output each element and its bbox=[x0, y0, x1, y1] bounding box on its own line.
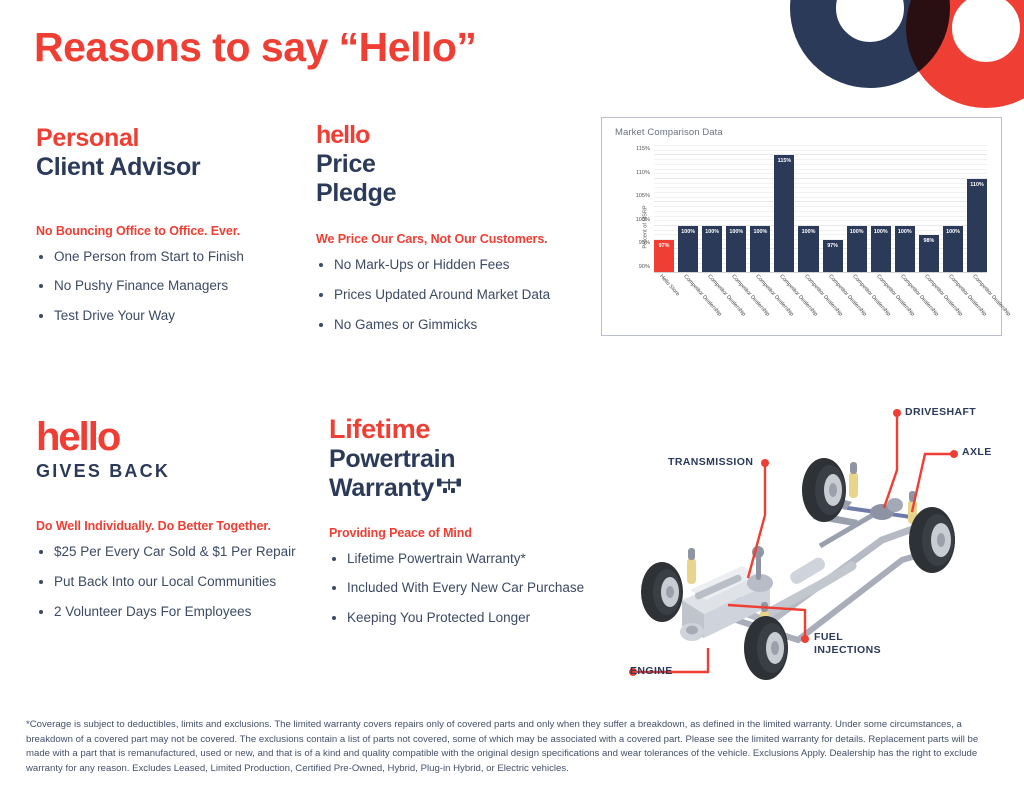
chart-bars: 97%100%100%100%100%115%100%97%100%100%10… bbox=[654, 146, 987, 273]
label-fuel-injections-line2: INJECTIONS bbox=[814, 644, 881, 656]
chart-bar-value-label: 100% bbox=[871, 229, 891, 235]
chart-y-tick-label: 95% bbox=[639, 240, 650, 246]
list-item: Put Back Into our Local Communities bbox=[36, 574, 301, 591]
chart-bar[interactable]: 100% bbox=[750, 226, 770, 273]
chart-bar[interactable]: 97% bbox=[654, 240, 674, 273]
section-subhead: We Price Our Cars, Not Our Customers. bbox=[316, 232, 586, 246]
list-item: No Mark-Ups or Hidden Fees bbox=[316, 257, 586, 274]
list-item: Prices Updated Around Market Data bbox=[316, 287, 586, 304]
chart-y-tick-label: 115% bbox=[636, 146, 650, 152]
section-subhead: Do Well Individually. Do Better Together… bbox=[36, 519, 301, 533]
chart-bar-value-label: 100% bbox=[678, 229, 698, 235]
chart-bar-slot: 100% bbox=[943, 146, 963, 273]
red-ring-shape bbox=[906, 0, 1024, 108]
section-bullet-list: No Mark-Ups or Hidden Fees Prices Update… bbox=[316, 257, 586, 334]
chart-bar[interactable]: 100% bbox=[847, 226, 867, 273]
chart-bar-slot: 100% bbox=[702, 146, 722, 273]
chart-bar-value-label: 100% bbox=[798, 229, 818, 235]
label-fuel-injections: FUEL INJECTIONS bbox=[814, 631, 881, 657]
chart-bar-slot: 100% bbox=[750, 146, 770, 273]
list-item: 2 Volunteer Days For Employees bbox=[36, 604, 301, 621]
section-heading-line2: Client Advisor bbox=[36, 153, 286, 182]
chart-bar[interactable]: 100% bbox=[702, 226, 722, 273]
chart-bar[interactable]: 98% bbox=[919, 235, 939, 273]
section-heading-line2: GIVES BACK bbox=[36, 461, 301, 482]
section-heading-line2: Powertrain bbox=[329, 445, 609, 474]
chart-x-tick-slot: Competitor Dealership bbox=[823, 273, 843, 331]
chart-bar-value-label: 97% bbox=[654, 243, 674, 249]
list-item: Test Drive Your Way bbox=[36, 308, 286, 325]
chart-x-tick-slot: Competitor Dealership bbox=[871, 273, 891, 331]
chart-bar-value-label: 98% bbox=[919, 238, 939, 244]
chart-bar-slot: 100% bbox=[726, 146, 746, 273]
decorative-rings bbox=[780, 0, 1024, 112]
chart-bar-slot: 98% bbox=[919, 146, 939, 273]
chart-bar-slot: 97% bbox=[654, 146, 674, 273]
label-engine: ENGINE bbox=[630, 665, 673, 678]
poster-page: Reasons to say “Hello” Personal Client A… bbox=[0, 0, 1024, 804]
chart-x-tick-slot: Competitor Dealership bbox=[726, 273, 746, 331]
section-subhead: No Bouncing Office to Office. Ever. bbox=[36, 224, 286, 238]
chart-bar[interactable]: 97% bbox=[823, 240, 843, 273]
chart-x-tick-slot: Competitor Dealership bbox=[702, 273, 722, 331]
navy-ring-shape bbox=[790, 0, 950, 88]
section-bullet-list: Lifetime Powertrain Warranty* Included W… bbox=[329, 551, 609, 628]
chart-bar[interactable]: 115% bbox=[774, 155, 794, 273]
chart-x-tick-slot: Competitor Dealership bbox=[943, 273, 963, 331]
chart-bar-value-label: 110% bbox=[967, 182, 987, 188]
list-item: Keeping You Protected Longer bbox=[329, 610, 609, 627]
chart-bar[interactable]: 100% bbox=[798, 226, 818, 273]
chart-bar-value-label: 100% bbox=[895, 229, 915, 235]
page-title: Reasons to say “Hello” bbox=[34, 24, 476, 71]
chart-x-tick-slot: Competitor Dealership bbox=[895, 273, 915, 331]
chart-bar[interactable]: 100% bbox=[678, 226, 698, 273]
list-item: Included With Every New Car Purchase bbox=[329, 580, 609, 597]
chart-bar[interactable]: 100% bbox=[943, 226, 963, 273]
chart-x-tick-slot: Competitor Dealership bbox=[774, 273, 794, 331]
chart-bar-slot: 97% bbox=[823, 146, 843, 273]
chart-x-tick-slot: Competitor Dealership bbox=[919, 273, 939, 331]
section-lifetime-powertrain-warranty: Lifetime Powertrain Warranty Providing P… bbox=[329, 414, 609, 640]
section-bullet-list: One Person from Start to Finish No Pushy… bbox=[36, 249, 286, 326]
chart-bar-value-label: 115% bbox=[774, 158, 794, 164]
chart-bar-slot: 100% bbox=[798, 146, 818, 273]
section-personal-client-advisor: Personal Client Advisor No Bouncing Offi… bbox=[36, 124, 286, 338]
list-item: $25 Per Every Car Sold & $1 Per Repair bbox=[36, 544, 301, 561]
chart-x-tick-label: Competitor Dealership bbox=[971, 274, 1011, 318]
car-chassis-diagram: DRIVESHAFT AXLE TRANSMISSION FUEL INJECT… bbox=[620, 400, 1020, 690]
section-heading-line1: Personal bbox=[36, 124, 286, 153]
label-fuel-injections-line1: FUEL bbox=[814, 631, 843, 643]
chart-y-tick-label: 105% bbox=[636, 193, 650, 199]
chart-bar-value-label: 100% bbox=[943, 229, 963, 235]
list-item: No Games or Gimmicks bbox=[316, 317, 586, 334]
chart-bar-slot: 100% bbox=[871, 146, 891, 273]
list-item: No Pushy Finance Managers bbox=[36, 278, 286, 295]
chart-y-tick-label: 100% bbox=[636, 217, 650, 223]
label-driveshaft: DRIVESHAFT bbox=[905, 406, 976, 419]
hello-logo-wordmark: hello bbox=[36, 418, 301, 456]
section-bullet-list: $25 Per Every Car Sold & $1 Per Repair P… bbox=[36, 544, 301, 621]
section-heading-line3: Pledge bbox=[316, 179, 586, 208]
section-heading-line2: Price bbox=[316, 150, 586, 179]
chart-bar-value-label: 100% bbox=[726, 229, 746, 235]
chart-x-tick-slot: Competitor Dealership bbox=[798, 273, 818, 331]
hello-logo-wordmark: hello bbox=[316, 122, 586, 148]
list-item: One Person from Start to Finish bbox=[36, 249, 286, 266]
label-transmission: TRANSMISSION bbox=[668, 456, 753, 469]
section-subhead: Providing Peace of Mind bbox=[329, 526, 609, 540]
market-comparison-chart: Market Comparison Data Percent of MSRP 9… bbox=[601, 117, 1002, 336]
section-hello-gives-back: hello GIVES BACK Do Well Individually. D… bbox=[36, 418, 301, 634]
chart-bar-slot: 110% bbox=[967, 146, 987, 273]
chart-bar-value-label: 100% bbox=[702, 229, 722, 235]
chart-bar[interactable]: 100% bbox=[871, 226, 891, 273]
chart-bar-slot: 100% bbox=[678, 146, 698, 273]
chart-bar[interactable]: 110% bbox=[967, 179, 987, 273]
chart-x-tick-slot: Competitor Dealership bbox=[750, 273, 770, 331]
chart-bar-slot: 100% bbox=[895, 146, 915, 273]
chart-x-tick-slot: Competitor Dealership bbox=[678, 273, 698, 331]
label-axle: AXLE bbox=[962, 446, 992, 459]
chart-x-tick-slot: Competitor Dealership bbox=[967, 273, 987, 331]
section-hello-price-pledge: hello Price Pledge We Price Our Cars, No… bbox=[316, 122, 586, 346]
list-item: Lifetime Powertrain Warranty* bbox=[329, 551, 609, 568]
chart-bar-slot: 115% bbox=[774, 146, 794, 273]
chart-y-tick-label: 90% bbox=[639, 264, 650, 270]
chart-x-tick-labels: Hello StoreCompetitor DealershipCompetit… bbox=[654, 273, 987, 331]
chart-x-tick-slot: Hello Store bbox=[654, 273, 674, 331]
chart-bar[interactable]: 100% bbox=[895, 226, 915, 273]
axle-icon bbox=[436, 477, 462, 499]
chart-y-tick-label: 110% bbox=[636, 170, 650, 176]
chart-bar[interactable]: 100% bbox=[726, 226, 746, 273]
chart-x-tick-slot: Competitor Dealership bbox=[847, 273, 867, 331]
section-heading-line3: Warranty bbox=[329, 474, 434, 503]
warranty-heading-row: Warranty bbox=[329, 474, 609, 503]
chart-bar-value-label: 100% bbox=[750, 229, 770, 235]
chart-bar-slot: 100% bbox=[847, 146, 867, 273]
footnote-disclaimer: *Coverage is subject to deductibles, lim… bbox=[26, 718, 1001, 776]
chart-bar-value-label: 100% bbox=[847, 229, 867, 235]
chart-title: Market Comparison Data bbox=[615, 127, 723, 138]
section-heading-line1: Lifetime bbox=[329, 414, 609, 445]
chart-bar-value-label: 97% bbox=[823, 243, 843, 249]
chart-plot-area: 90%95%100%105%110%115% 97%100%100%100%10… bbox=[654, 146, 987, 273]
